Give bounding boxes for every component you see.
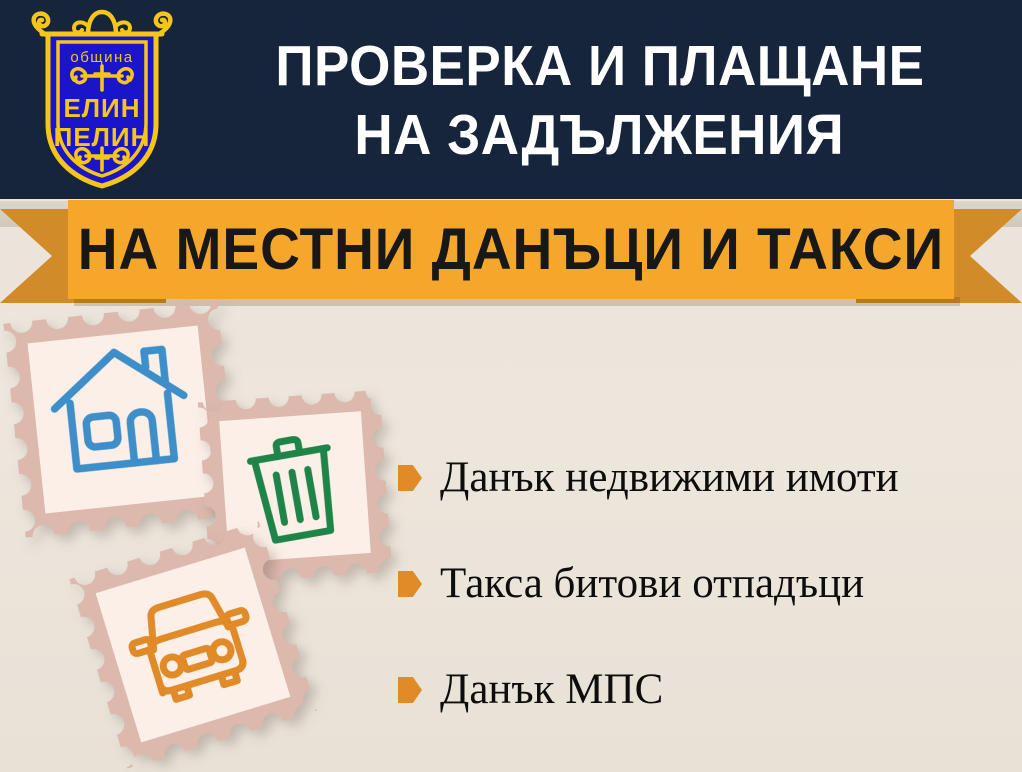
page-title: ПРОВЕРКА И ПЛАЩАНЕ НА ЗАДЪЛЖЕНИЯ xyxy=(192,16,1007,186)
ribbon-panel: НА МЕСТНИ ДАНЪЦИ И ТАКСИ xyxy=(68,200,954,299)
ribbon-label: НА МЕСТНИ ДАНЪЦИ И ТАКСИ xyxy=(78,219,944,281)
list-item-label: Данък МПС xyxy=(440,666,663,714)
arrow-bullet-icon xyxy=(398,677,422,703)
list-item[interactable]: Такса битови отпадъци xyxy=(398,531,1008,637)
tax-type-list: Данък недвижими имоти Такса битови отпад… xyxy=(398,425,1008,743)
list-item-label: Такса битови отпадъци xyxy=(440,560,864,608)
arrow-bullet-icon xyxy=(398,571,422,597)
title-line-2: НА ЗАДЪЛЖЕНИЯ xyxy=(355,101,845,170)
list-item-label: Данък недвижими имоти xyxy=(440,454,899,502)
coat-of-arms-icon: община ЕЛИН ПЕЛИН xyxy=(18,6,186,192)
municipality-crest: община ЕЛИН ПЕЛИН xyxy=(18,6,186,192)
svg-text:ЕЛИН: ЕЛИН xyxy=(63,93,140,123)
svg-text:община: община xyxy=(70,49,133,66)
arrow-bullet-icon xyxy=(398,465,422,491)
list-item[interactable]: Данък МПС xyxy=(398,637,1008,743)
title-line-1: ПРОВЕРКА И ПЛАЩАНЕ xyxy=(275,32,924,101)
subtitle-ribbon: НА МЕСТНИ ДАНЪЦИ И ТАКСИ xyxy=(0,197,1022,309)
header-banner: община ЕЛИН ПЕЛИН ПРОВЕРКА И ПЛАЩ xyxy=(0,0,1022,199)
list-item[interactable]: Данък недвижими имоти xyxy=(398,425,1008,531)
